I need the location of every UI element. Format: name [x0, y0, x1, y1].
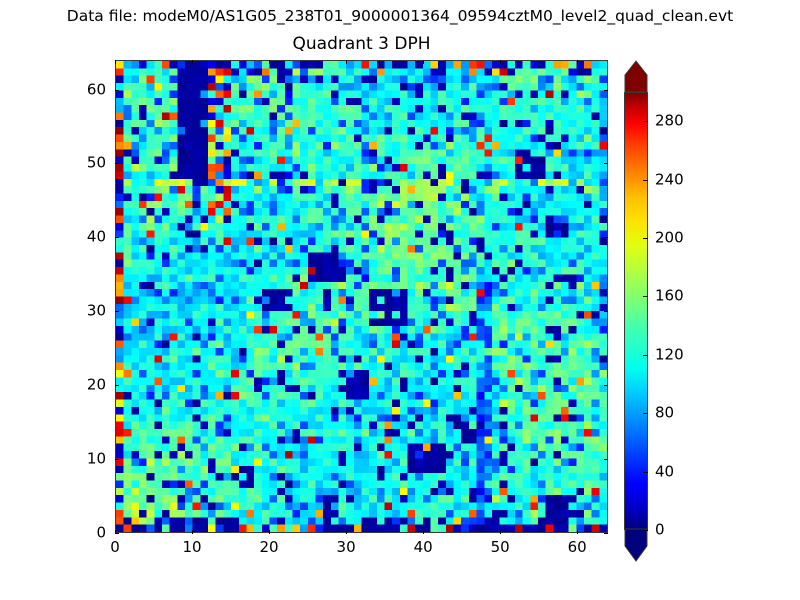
x-tick-mark	[192, 530, 193, 534]
colorbar-tick-label: 200	[655, 230, 684, 247]
figure-suptitle: Data file: modeM0/AS1G05_238T01_90000013…	[0, 7, 800, 26]
colorbar-extend-min-arrow	[624, 528, 648, 562]
x-tick-mark	[500, 530, 501, 534]
colorbar-tick-label: 0	[655, 522, 665, 539]
colorbar-tick-label: 280	[655, 113, 684, 130]
y-tick-label: 50	[66, 155, 106, 172]
x-tick-label: 0	[110, 539, 120, 556]
colorbar-tick-label: 40	[655, 463, 674, 480]
colorbar-tick-label: 120	[655, 346, 684, 363]
colorbar-gradient	[624, 92, 648, 530]
x-tick-mark-top	[423, 60, 424, 64]
x-tick-mark-top	[500, 60, 501, 64]
y-tick-mark	[115, 90, 119, 91]
y-tick-mark-right	[604, 90, 608, 91]
y-tick-mark	[115, 533, 119, 534]
colorbar-tick-label: 160	[655, 288, 684, 305]
axes-title: Quadrant 3 DPH	[115, 33, 608, 55]
colorbar-tick-label: 80	[655, 405, 674, 422]
colorbar-tick-mark	[643, 355, 648, 356]
x-tick-mark-top	[269, 60, 270, 64]
heatmap-axes[interactable]	[115, 60, 608, 533]
y-tick-label: 60	[66, 81, 106, 98]
x-tick-label: 20	[260, 539, 279, 556]
colorbar-tick-mark	[643, 472, 648, 473]
colorbar-tick-mark	[643, 180, 648, 181]
y-tick-mark	[115, 385, 119, 386]
x-tick-mark	[423, 530, 424, 534]
y-tick-mark-right	[604, 459, 608, 460]
y-tick-label: 20	[66, 377, 106, 394]
y-tick-label: 0	[66, 525, 106, 542]
x-tick-label: 10	[182, 539, 201, 556]
colorbar-tick-mark	[643, 238, 648, 239]
x-tick-mark	[346, 530, 347, 534]
colorbar-tick-mark	[643, 413, 648, 414]
figure-canvas: Data file: modeM0/AS1G05_238T01_90000013…	[0, 0, 800, 600]
colorbar-tick-mark	[643, 530, 648, 531]
x-tick-label: 40	[414, 539, 433, 556]
x-tick-label: 30	[337, 539, 356, 556]
y-tick-mark-right	[604, 311, 608, 312]
colorbar-tick-mark	[643, 121, 648, 122]
x-tick-label: 50	[491, 539, 510, 556]
y-tick-mark	[115, 237, 119, 238]
x-tick-mark-top	[192, 60, 193, 64]
colorbar[interactable]: 28024020016012080400	[623, 58, 651, 548]
colorbar-tick-label: 240	[655, 171, 684, 188]
colorbar-extend-max-arrow	[624, 60, 648, 93]
y-tick-mark	[115, 311, 119, 312]
x-tick-label: 60	[568, 539, 587, 556]
y-tick-label: 10	[66, 451, 106, 468]
x-tick-mark	[269, 530, 270, 534]
x-tick-mark-top	[577, 60, 578, 64]
x-tick-mark-top	[115, 60, 116, 64]
y-tick-label: 40	[66, 229, 106, 246]
heatmap-image[interactable]	[116, 61, 607, 532]
y-tick-mark-right	[604, 163, 608, 164]
x-tick-mark	[577, 530, 578, 534]
y-tick-mark-right	[604, 533, 608, 534]
y-tick-mark	[115, 163, 119, 164]
y-tick-mark	[115, 459, 119, 460]
y-tick-mark-right	[604, 237, 608, 238]
y-tick-mark-right	[604, 385, 608, 386]
x-tick-mark-top	[346, 60, 347, 64]
colorbar-tick-mark	[643, 296, 648, 297]
y-tick-label: 30	[66, 303, 106, 320]
